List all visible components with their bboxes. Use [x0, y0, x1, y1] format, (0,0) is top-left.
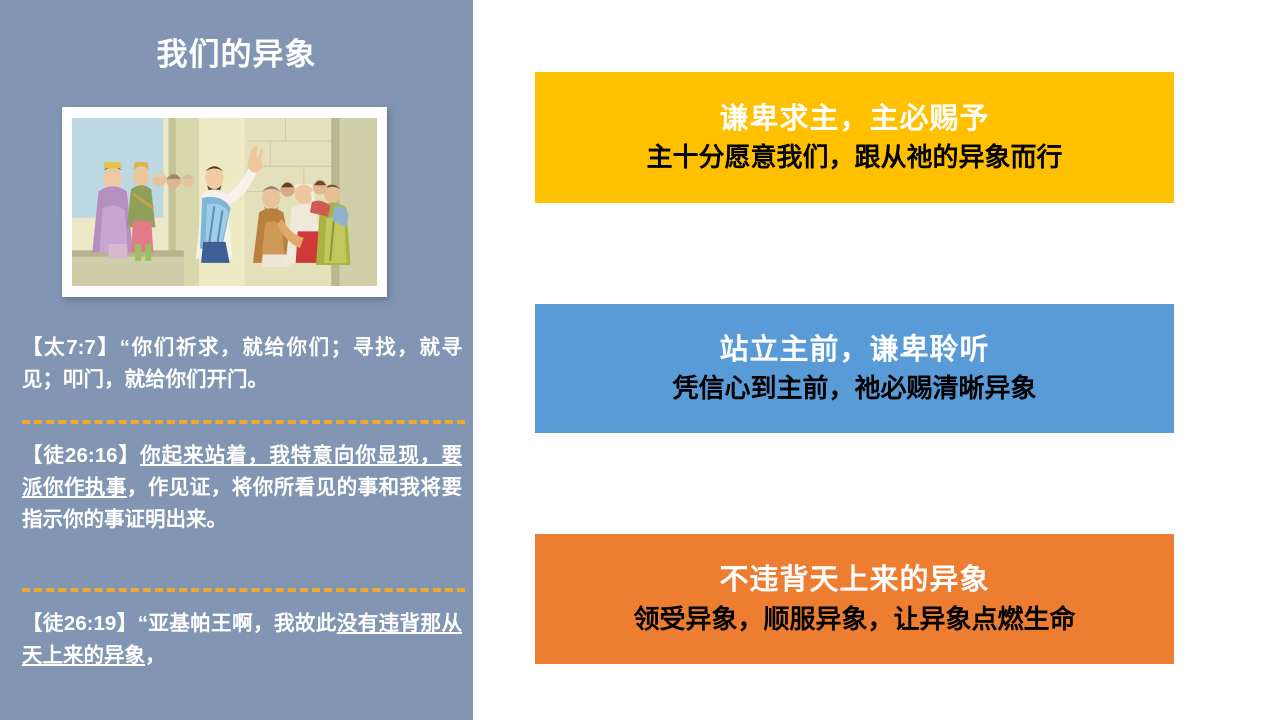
panel-subline: 领受异象，顺服异象，让异象点燃生命 — [633, 604, 1075, 635]
picture-frame — [62, 107, 387, 297]
point-panel-stand-listen: 站立主前，谦卑聆听 凭信心到主前，祂必赐清晰异象 — [535, 304, 1174, 433]
verse-reference: 【徒26:19】 — [22, 612, 138, 635]
verse-reference: 【太7:7】 — [22, 336, 120, 359]
sidebar-panel: 我们的异象 — [0, 0, 473, 720]
illustration-artwork — [72, 118, 377, 286]
point-panel-not-disobedient: 不违背天上来的异象 领受异象，顺服异象，让异象点燃生命 — [535, 534, 1174, 664]
panel-headline: 站立主前，谦卑聆听 — [719, 333, 989, 368]
panel-headline: 谦卑求主，主必赐予 — [719, 102, 989, 137]
scripture-verse: 【徒26:16】你起来站着，我特意向你显现，要派你作执事，作见证，将你所看见的事… — [22, 440, 462, 535]
panel-subline: 主十分愿意我们，跟从祂的异象而行 — [646, 142, 1062, 173]
paul-before-agrippa-illustration — [72, 118, 377, 286]
scripture-verse: 【太7:7】“你们祈求，就给你们；寻找，就寻见；叩门，就给你们开门。 — [22, 332, 462, 396]
verse-text-plain: ， — [145, 644, 166, 667]
section-divider — [22, 420, 465, 424]
verse-reference: 【徒26:16】 — [22, 444, 140, 467]
section-divider — [22, 588, 465, 592]
verse-text-plain: “亚基帕王啊，我故此 — [138, 612, 337, 635]
page-title: 我们的异象 — [0, 38, 473, 72]
point-panel-humble-ask: 谦卑求主，主必赐予 主十分愿意我们，跟从祂的异象而行 — [535, 72, 1174, 203]
panel-subline: 凭信心到主前，祂必赐清晰异象 — [672, 373, 1036, 404]
scripture-verse: 【徒26:19】“亚基帕王啊，我故此没有违背那从天上来的异象， — [22, 608, 462, 672]
panel-headline: 不违背天上来的异象 — [719, 563, 989, 598]
